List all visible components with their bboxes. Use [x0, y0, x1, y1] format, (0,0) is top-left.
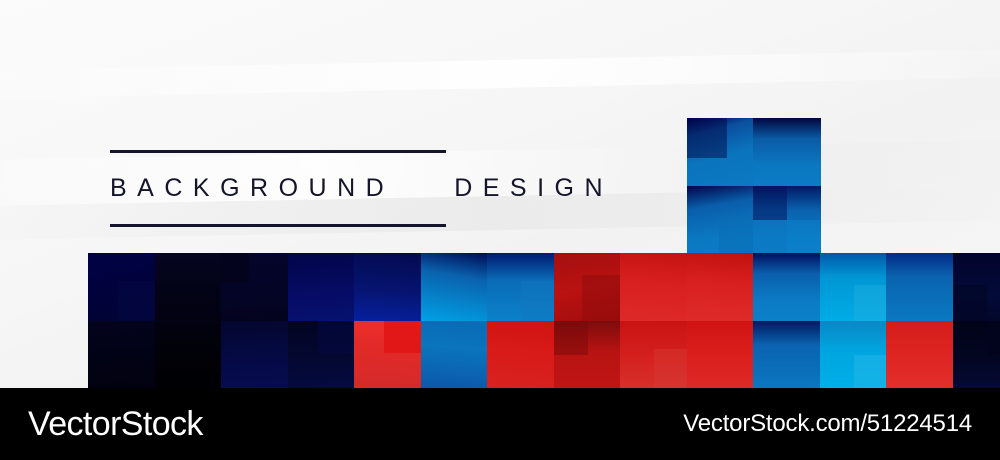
mosaic-cell [687, 118, 755, 187]
mosaic-cell [554, 321, 622, 389]
headline-word-background: BACKGROUND [110, 174, 394, 203]
mosaic-cell [354, 321, 422, 389]
mosaic-cell [753, 186, 821, 255]
mosaic-cell [687, 321, 755, 389]
mosaic-subcell [318, 321, 355, 353]
mosaic-subcell [953, 285, 987, 321]
mosaic-cell [288, 253, 356, 322]
mosaic-cell [421, 321, 489, 389]
mosaic-cell [221, 321, 289, 389]
watermark-bar: VectorStock VectorStock.com/51224514 [0, 388, 1000, 460]
mosaic-cell [753, 118, 821, 187]
mosaic-cell [753, 321, 821, 389]
headline-word-design: DESIGN [454, 174, 613, 203]
poster-canvas: BACKGROUND DESIGN VectorStock VectorStoc… [0, 0, 1000, 460]
headline-block: BACKGROUND DESIGN [110, 150, 670, 227]
mosaic-cell [155, 321, 223, 389]
mosaic-subcell [987, 321, 1000, 355]
headline-title-row: BACKGROUND DESIGN [110, 153, 670, 224]
mosaic-subcell [554, 321, 588, 355]
mosaic-cell [687, 186, 755, 255]
mosaic-subcell [221, 253, 249, 283]
mosaic-cell [886, 253, 954, 322]
watermark-url: VectorStock.com/51224514 [683, 410, 972, 438]
artwork-area: BACKGROUND DESIGN [0, 0, 1000, 388]
mosaic-subcell [854, 355, 887, 389]
mosaic-subcell [753, 186, 787, 220]
mosaic-subcell [753, 220, 787, 254]
mosaic-cell [354, 253, 422, 322]
mosaic-subcell [384, 321, 421, 353]
mosaic-cell [820, 253, 888, 322]
mosaic-cell [753, 253, 821, 322]
mosaic-cell [288, 321, 356, 389]
mosaic-cell [421, 253, 489, 322]
mosaic-subcell [687, 118, 727, 158]
mosaic-subcell [854, 285, 887, 321]
headline-rule-bottom [110, 224, 446, 227]
mosaic-cell [221, 253, 289, 322]
mosaic-cell [953, 253, 1000, 322]
mosaic-cell [487, 321, 555, 389]
mosaic-subcell [654, 349, 687, 389]
mosaic-cell [155, 253, 223, 322]
mosaic-cell [554, 253, 622, 322]
mosaic-subcell [582, 275, 620, 321]
mosaic-cell [953, 321, 1000, 389]
mosaic-cell [620, 321, 688, 389]
mosaic-cell [820, 321, 888, 389]
mosaic-subcell [118, 281, 156, 321]
mosaic-subcell [521, 281, 554, 321]
mosaic-cell [88, 253, 156, 322]
mosaic-cell [620, 253, 688, 322]
mosaic-cell [88, 321, 156, 389]
mosaic-cell [487, 253, 555, 322]
vectorstock-logo-text: VectorStock [28, 405, 203, 444]
mosaic-subcell [787, 220, 820, 254]
mosaic-cell [687, 253, 755, 322]
mosaic-cell [886, 321, 954, 389]
mosaic-subcell [719, 216, 753, 254]
